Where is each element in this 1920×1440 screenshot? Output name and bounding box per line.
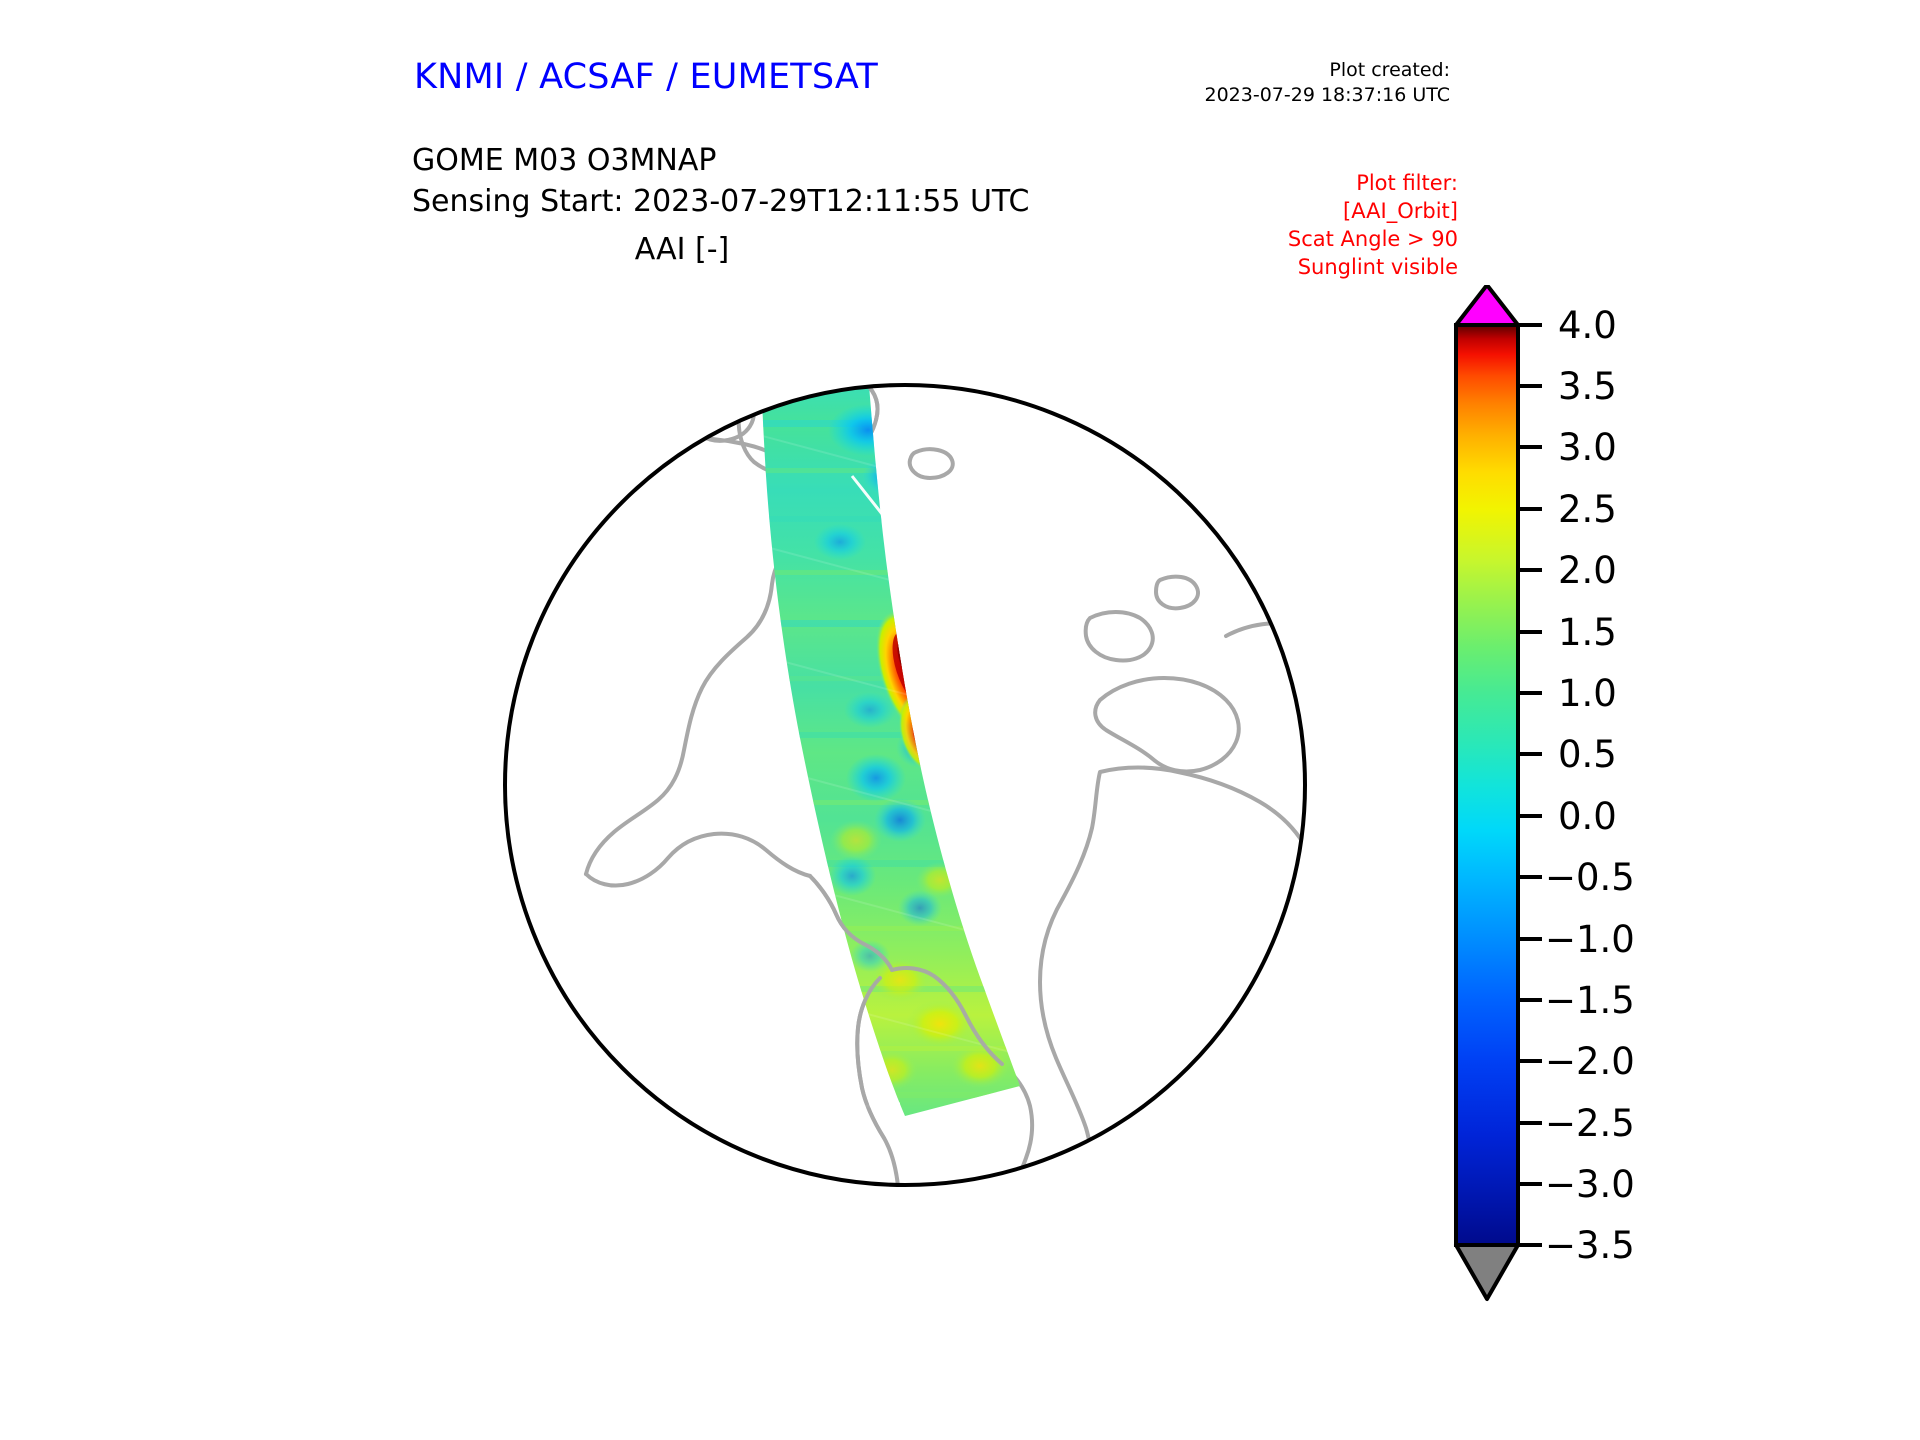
cb-label-11: −1.5 [1545, 979, 1635, 1022]
cb-label-12: −2.0 [1545, 1040, 1635, 1083]
product-info-block: GOME M03 O3MNAP Sensing Start: 2023-07-2… [412, 140, 1029, 222]
product-name: GOME M03 O3MNAP [412, 140, 1029, 181]
colorbar-under-arrow [1456, 1245, 1518, 1299]
cb-label-14: −3.0 [1545, 1163, 1635, 1206]
cb-label-1: 3.5 [1558, 365, 1617, 408]
cb-label-9: −0.5 [1545, 856, 1635, 899]
plot-filter-line-3: Sunglint visible [1288, 254, 1458, 282]
cb-label-6: 1.0 [1558, 672, 1617, 715]
colorbar: 4.0 3.5 3.0 2.5 2.0 1.5 1.0 0.5 0.0 −0.5… [1432, 285, 1852, 1305]
cb-label-10: −1.0 [1545, 918, 1635, 961]
colorbar-svg: 4.0 3.5 3.0 2.5 2.0 1.5 1.0 0.5 0.0 −0.5… [1432, 285, 1852, 1305]
colorbar-tick-labels: 4.0 3.5 3.0 2.5 2.0 1.5 1.0 0.5 0.0 −0.5… [1545, 304, 1635, 1267]
cb-label-15: −3.5 [1545, 1224, 1635, 1267]
colorbar-over-arrow [1456, 285, 1518, 325]
cb-label-4: 2.0 [1558, 549, 1617, 592]
plot-created-label: Plot created: [1205, 58, 1451, 83]
plot-filter-line-1: [AAI_Orbit] [1288, 198, 1458, 226]
plot-created-timestamp: 2023-07-29 18:37:16 UTC [1205, 83, 1451, 108]
colorbar-gradient [1456, 325, 1518, 1245]
organisation-title: KNMI / ACSAF / EUMETSAT [414, 57, 878, 97]
sensing-start: Sensing Start: 2023-07-29T12:11:55 UTC [412, 181, 1029, 222]
quantity-title: AAI [-] [412, 232, 952, 267]
orthographic-globe [400, 280, 1410, 1290]
map-plot-area [400, 280, 1410, 1290]
plot-created-block: Plot created: 2023-07-29 18:37:16 UTC [1205, 58, 1451, 108]
plot-filter-line-2: Scat Angle > 90 [1288, 226, 1458, 254]
cb-label-0: 4.0 [1558, 304, 1617, 347]
cb-label-13: −2.5 [1545, 1102, 1635, 1145]
plot-filter-block: Plot filter: [AAI_Orbit] Scat Angle > 90… [1288, 170, 1458, 282]
cb-label-7: 0.5 [1558, 733, 1617, 776]
cb-label-8: 0.0 [1558, 795, 1617, 838]
cb-label-5: 1.5 [1558, 611, 1617, 654]
colorbar-ticks [1518, 325, 1542, 1245]
plot-filter-title: Plot filter: [1288, 170, 1458, 198]
cb-label-2: 3.0 [1558, 426, 1617, 469]
cb-label-3: 2.5 [1558, 488, 1617, 531]
